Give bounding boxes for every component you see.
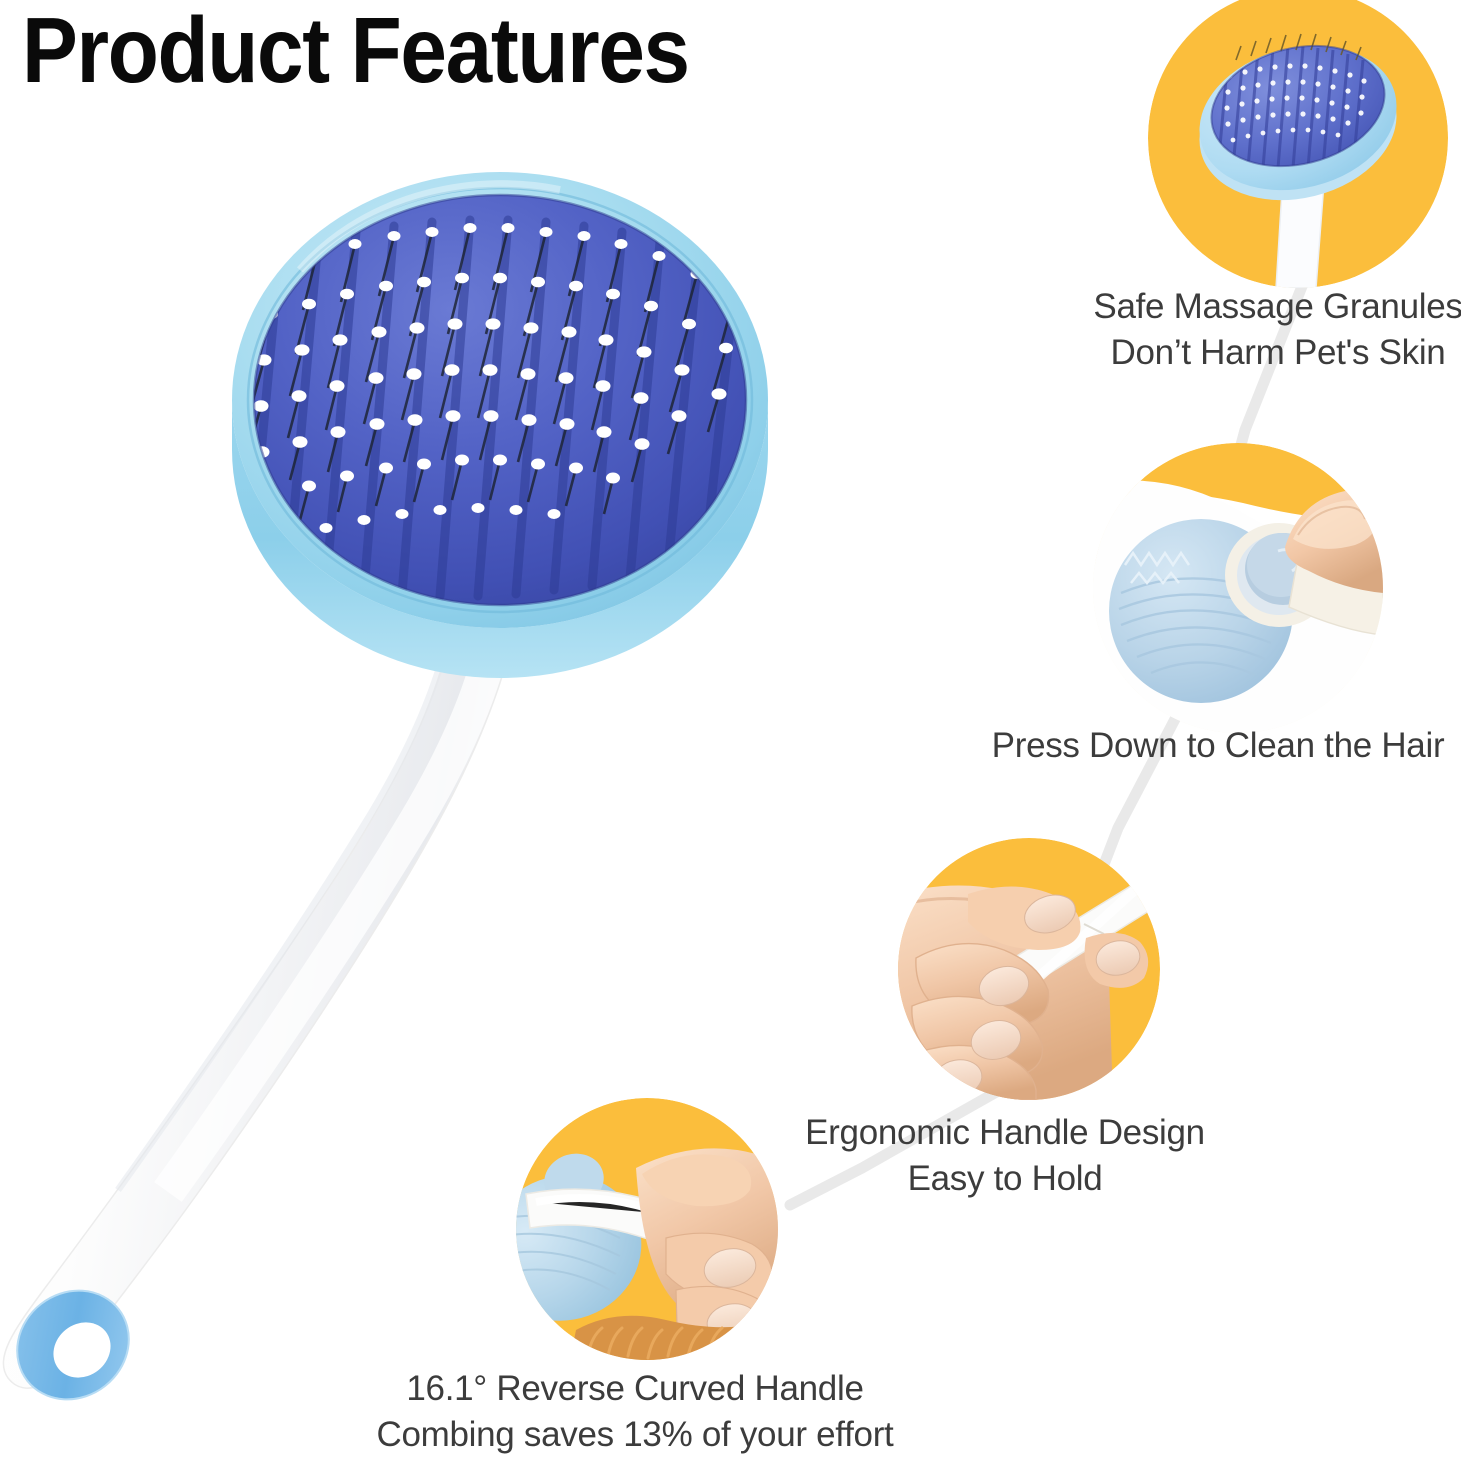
brushing-pet-fur-image [516, 1098, 778, 1360]
callout-safe-massage-granules[interactable] [1148, 0, 1448, 288]
brush-head-closeup-image [1148, 0, 1448, 288]
caption-reverse-curved-handle: 16.1° Reverse Curved Handle Combing save… [340, 1366, 930, 1457]
caption-line: Press Down to Clean the Hair [975, 723, 1461, 769]
callout-press-down-clean[interactable] [1093, 443, 1383, 733]
callout-ergonomic-handle[interactable] [898, 838, 1160, 1100]
caption-line: 16.1° Reverse Curved Handle [340, 1366, 930, 1412]
caption-ergonomic-handle: Ergonomic Handle Design Easy to Hold [790, 1110, 1220, 1201]
hand-gripping-handle-image [898, 838, 1160, 1100]
callout-reverse-curved-handle[interactable] [516, 1098, 778, 1360]
caption-safe-massage-granules: Safe Massage Granules Don’t Harm Pet's S… [1093, 284, 1461, 375]
caption-line: Combing saves 13% of your effort [340, 1412, 930, 1457]
infographic-canvas: Product Features [0, 0, 1461, 1454]
hero-product-image [0, 150, 1000, 1410]
caption-line: Easy to Hold [790, 1156, 1220, 1202]
thumb-pressing-button-image [1093, 443, 1383, 733]
caption-press-down-clean: Press Down to Clean the Hair [975, 723, 1461, 769]
caption-line: Safe Massage Granules [1093, 284, 1461, 330]
caption-line: Don’t Harm Pet's Skin [1093, 330, 1461, 376]
caption-line: Ergonomic Handle Design [790, 1110, 1220, 1156]
brush-head [232, 172, 768, 678]
